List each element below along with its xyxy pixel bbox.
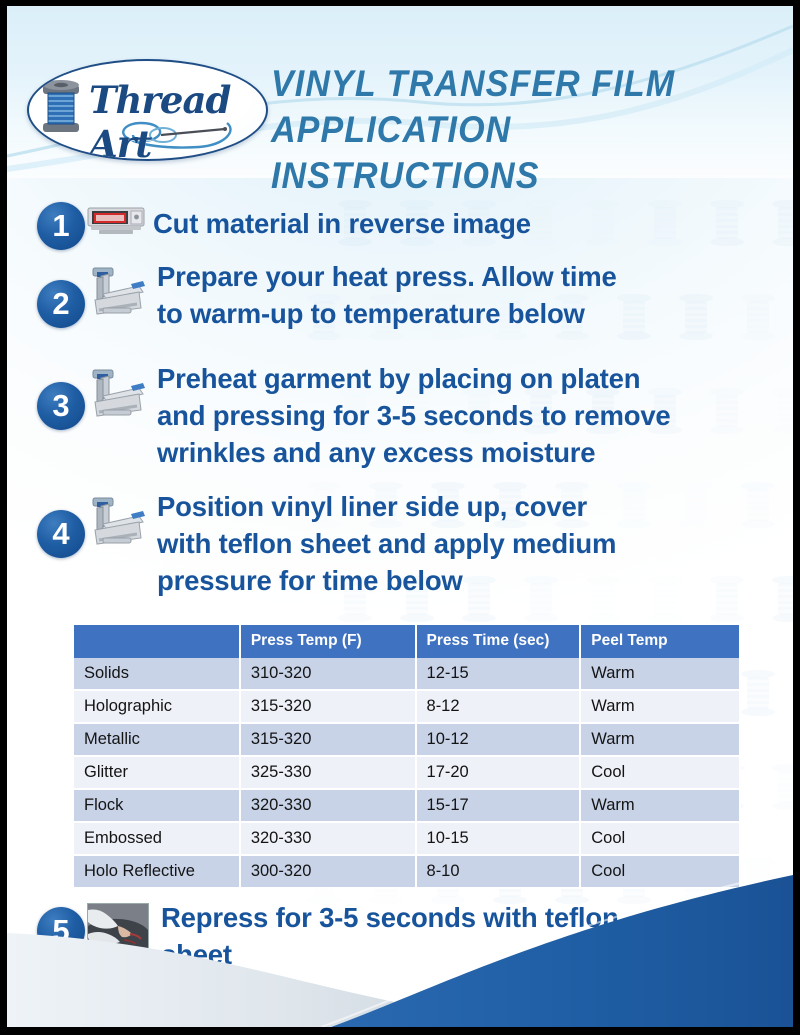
cell-material: Flock: [74, 789, 240, 822]
spool-watermark: [679, 482, 713, 528]
step-number-badge: 2: [37, 280, 85, 328]
spool-watermark: [710, 576, 744, 622]
step-4-text: Position vinyl liner side up, cover with…: [157, 488, 616, 599]
vinyl-cutter-plotter-icon: [87, 202, 149, 254]
cell-peel-temp: Warm: [580, 658, 740, 690]
step-1: 1 Cut material in reverse image: [37, 202, 531, 254]
spool-watermark: [586, 200, 620, 246]
table-header-row: Press Temp (F) Press Time (sec) Peel Tem…: [74, 625, 740, 658]
cell-press-temp: 315-320: [240, 723, 416, 756]
step-2: 2 Prepare your heat press. Allow t: [37, 264, 617, 332]
step-number-badge: 1: [37, 202, 85, 250]
logo-wordmark: Thread Art: [89, 78, 266, 161]
cell-press-time: 17-20: [416, 756, 581, 789]
page-header: Thread Art VINYL TRANSFER FILM APPLICATI…: [7, 6, 793, 178]
step-number-badge: 4: [37, 510, 85, 558]
vinyl-cutter-svg: [87, 206, 145, 236]
heat-press-svg: [87, 264, 147, 316]
footer-wave-decoration: [7, 847, 793, 1027]
cell-press-temp: 315-320: [240, 690, 416, 723]
instruction-sheet-page: Thread Art VINYL TRANSFER FILM APPLICATI…: [0, 0, 800, 1035]
cell-peel-temp: Warm: [580, 789, 740, 822]
cell-press-temp: 310-320: [240, 658, 416, 690]
page-canvas: Thread Art VINYL TRANSFER FILM APPLICATI…: [7, 6, 793, 1027]
table-row: Glitter325-33017-20Cool: [74, 756, 740, 789]
table-header-press-temp: Press Temp (F): [240, 625, 416, 658]
heat-press-svg: [87, 494, 147, 546]
table-header-peel-temp: Peel Temp: [580, 625, 740, 658]
step-4: 4 Position vinyl liner side up, cov: [37, 494, 616, 599]
spool-watermark: [679, 294, 713, 340]
cell-material: Glitter: [74, 756, 240, 789]
heat-press-svg: [87, 366, 147, 418]
spool-watermark: [772, 200, 793, 246]
spool-watermark: [617, 482, 651, 528]
spool-watermark: [772, 388, 793, 434]
cell-press-time: 10-12: [416, 723, 581, 756]
step-3-text: Preheat garment by placing on platen and…: [157, 360, 671, 471]
cell-peel-temp: Cool: [580, 756, 740, 789]
page-title-line2: APPLICATION INSTRUCTIONS: [271, 107, 731, 199]
step-2-text: Prepare your heat press. Allow time to w…: [157, 258, 617, 332]
table-row: Holographic315-3208-12Warm: [74, 690, 740, 723]
table-header-material: [74, 625, 240, 658]
cell-peel-temp: Warm: [580, 723, 740, 756]
page-title-line1: VINYL TRANSFER FILM: [271, 63, 675, 104]
spool-watermark: [772, 764, 793, 810]
cell-material: Metallic: [74, 723, 240, 756]
page-title: VINYL TRANSFER FILM APPLICATION INSTRUCT…: [271, 61, 731, 199]
spool-watermark: [741, 482, 775, 528]
heat-press-icon: [87, 264, 149, 316]
spool-watermark: [741, 670, 775, 716]
step-3: 3 Preheat garment by placing on pla: [37, 366, 671, 471]
table-header-press-time: Press Time (sec): [416, 625, 581, 658]
cell-press-time: 12-15: [416, 658, 581, 690]
spool-icon: [43, 80, 79, 132]
cell-peel-temp: Warm: [580, 690, 740, 723]
spool-watermark: [710, 200, 744, 246]
step-number-badge: 3: [37, 382, 85, 430]
spool-watermark: [617, 294, 651, 340]
cell-press-temp: 325-330: [240, 756, 416, 789]
table-row: Metallic315-32010-12Warm: [74, 723, 740, 756]
spool-watermark: [710, 388, 744, 434]
heat-press-icon: [87, 494, 149, 546]
step-1-text: Cut material in reverse image: [153, 205, 531, 242]
cell-press-time: 15-17: [416, 789, 581, 822]
heat-press-icon: [87, 366, 149, 418]
cell-material: Holographic: [74, 690, 240, 723]
spool-watermark: [772, 576, 793, 622]
cell-press-temp: 320-330: [240, 789, 416, 822]
spool-watermark: [648, 200, 682, 246]
spool-watermark: [741, 294, 775, 340]
thread-art-logo: Thread Art: [27, 59, 268, 161]
table-row: Flock320-33015-17Warm: [74, 789, 740, 822]
cell-press-time: 8-12: [416, 690, 581, 723]
spool-watermark: [648, 576, 682, 622]
cell-material: Solids: [74, 658, 240, 690]
table-row: Solids310-32012-15Warm: [74, 658, 740, 690]
